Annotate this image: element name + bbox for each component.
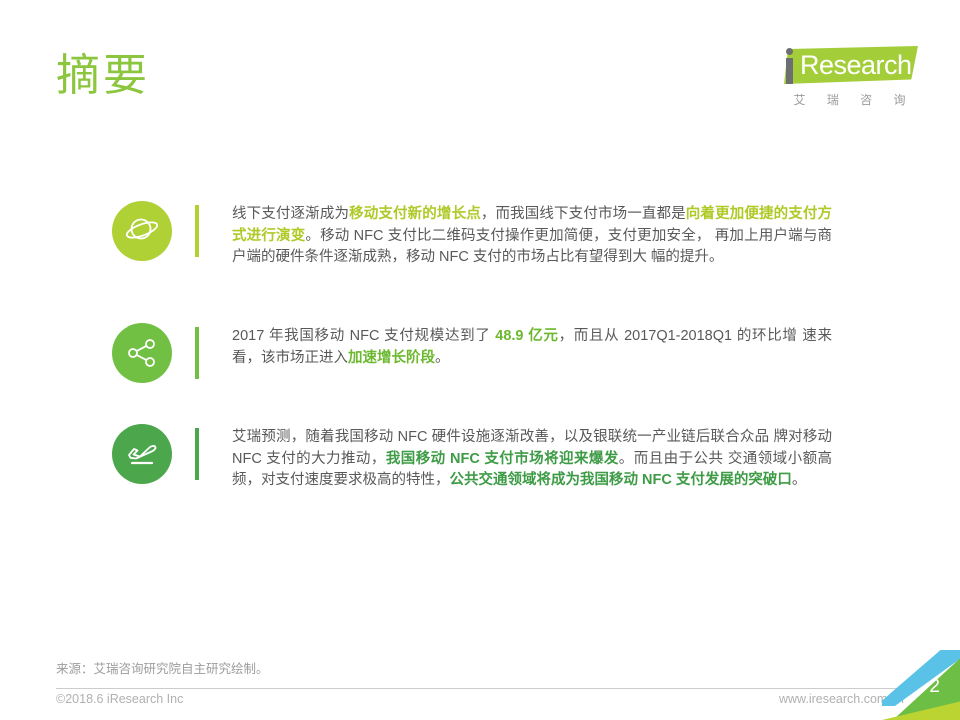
body-text: 线下支付逐渐成为 [232,206,349,222]
source-note: 来源：艾瑞咨询研究院自主研究绘制。 [56,660,269,678]
footer-divider [56,688,904,689]
highlighted-text: 我国移动 NFC 支付市场将迎来爆发 [386,451,619,467]
body-text: ，而我国线下支付市场一直都是 [481,206,686,222]
body-text: 2017 年我国移动 NFC 支付规模达到了 [232,328,495,344]
body-text: 。移动 NFC 支付比二维码支付操作更加简便，支付更加安全， 再加上用户端与商户… [232,228,832,266]
footer-copyright: ©2018.6 iResearch Inc [56,690,183,708]
highlighted-text: 48.9 亿元 [495,328,558,344]
highlighted-text: 移动支付新的增长点 [349,206,481,222]
body-text: 。 [435,350,450,366]
accent-bar-2 [195,327,199,379]
page-number: 2 [929,676,940,698]
summary-paragraph-2: 2017 年我国移动 NFC 支付规模达到了 48.9 亿元，而且从 2017Q… [232,326,832,369]
summary-paragraph-1: 线下支付逐渐成为移动支付新的增长点，而我国线下支付市场一直都是向着更加便捷的支付… [232,204,832,269]
airplane-takeoff-icon [112,424,172,484]
share-nodes-icon [112,323,172,383]
accent-bar-3 [195,428,199,480]
highlighted-text: 公共交通领域将成为我国移动 NFC 支付发展的突破口 [450,472,792,488]
slide: 摘要 Research 艾 瑞 咨 询 线下支付逐渐成为移动支付新的增长点，而我… [0,0,960,720]
highlighted-text: 加速增长阶段 [348,350,435,366]
summary-paragraph-3: 艾瑞预测，随着我国移动 NFC 硬件设施逐渐改善，以及银联统一产业链后联合众品 … [232,427,832,492]
summary-blocks: 线下支付逐渐成为移动支付新的增长点，而我国线下支付市场一直都是向着更加便捷的支付… [0,0,960,720]
accent-bar-1 [195,205,199,257]
corner-decoration [882,650,960,720]
planet-icon [112,201,172,261]
body-text: 。 [792,472,807,488]
